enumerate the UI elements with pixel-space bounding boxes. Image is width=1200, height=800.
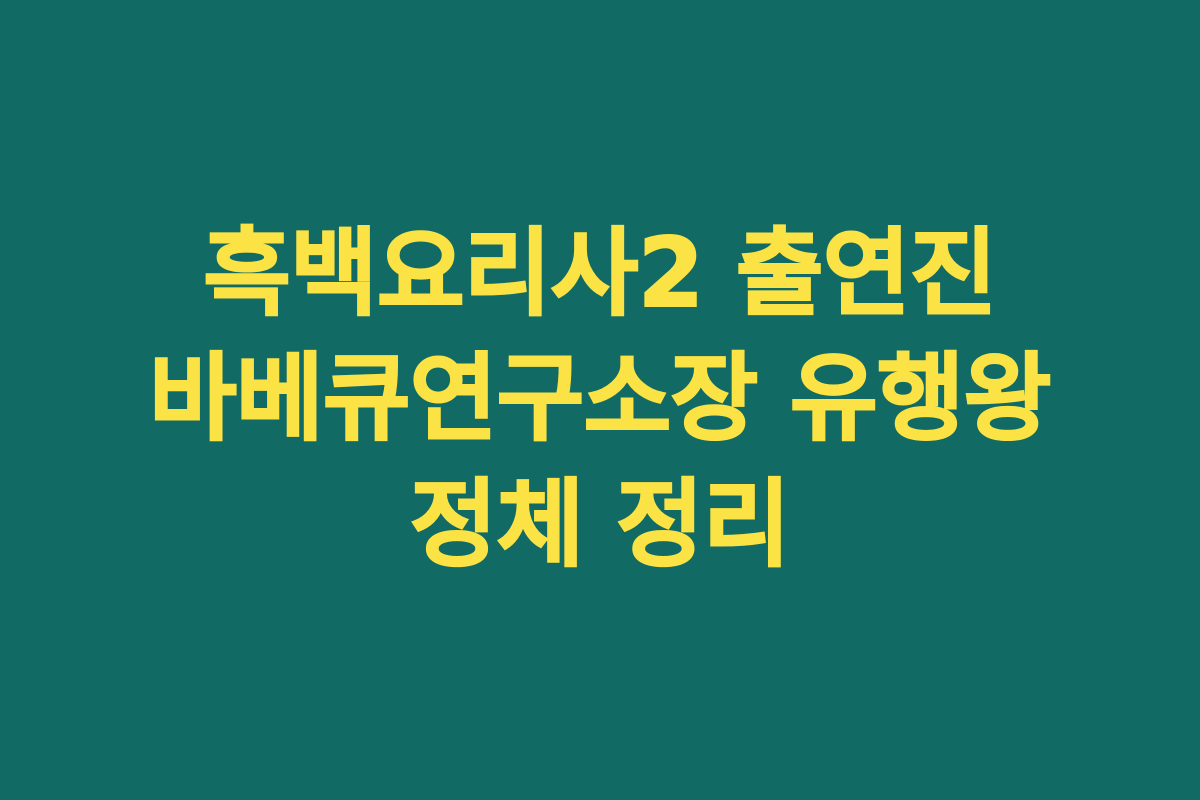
headline-block: 흑백요리사2 출연진 바베큐연구소장 유행왕 정체 정리 [0,212,1200,588]
thumbnail-card: 흑백요리사2 출연진 바베큐연구소장 유행왕 정체 정리 [0,0,1200,800]
headline-title: 흑백요리사2 출연진 바베큐연구소장 유행왕 정체 정리 [78,212,1122,588]
